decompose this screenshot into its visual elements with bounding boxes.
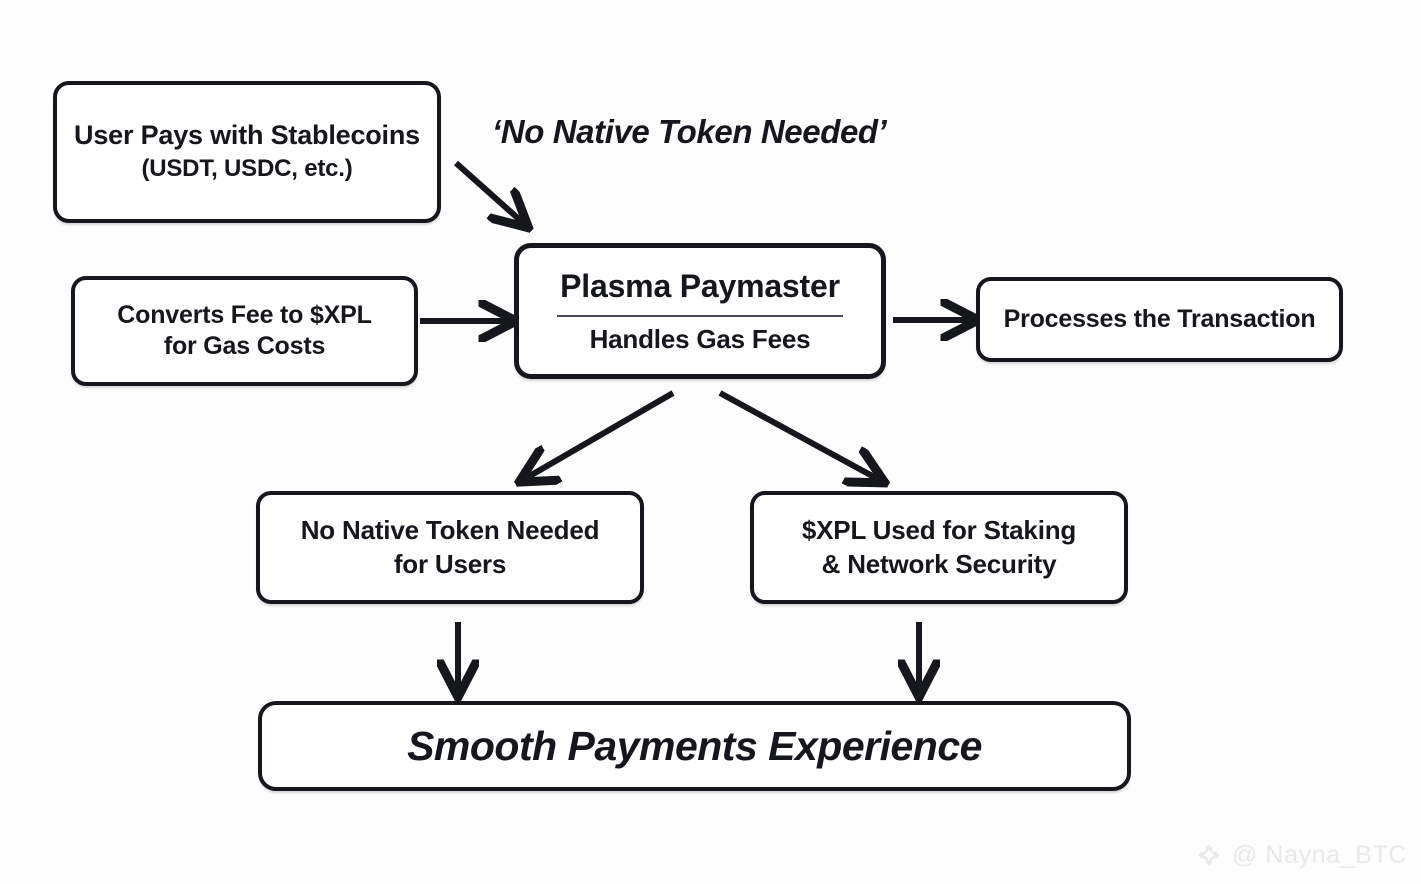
node-no-native-token-line1: No Native Token Needed [260,515,640,546]
node-xpl-staking-line2: & Network Security [754,549,1124,580]
diagram-canvas: ‘No Native Token Needed’ User Pays with … [0,0,1421,884]
node-user-pays-line1: User Pays with Stablecoins [57,120,437,152]
node-no-native-token-line2: for Users [260,549,640,580]
node-plasma-paymaster-divider [557,315,843,317]
node-xpl-staking[interactable]: $XPL Used for Staking & Network Security [750,491,1128,604]
diagram-caption: ‘No Native Token Needed’ [492,113,886,151]
node-processes-transaction[interactable]: Processes the Transaction [976,277,1343,362]
binance-logo-icon [1194,840,1224,870]
node-no-native-token[interactable]: No Native Token Needed for Users [256,491,644,604]
arrow-user-to-paymaster [456,163,521,221]
node-xpl-staking-line1: $XPL Used for Staking [754,515,1124,546]
arrow-paymaster-to-staking [720,393,876,478]
node-plasma-paymaster[interactable]: Plasma Paymaster Handles Gas Fees [514,243,886,379]
node-converts-fee-line2: for Gas Costs [75,332,414,362]
node-user-pays-line2: (USDT, USDC, etc.) [57,155,437,183]
node-plasma-paymaster-subtitle: Handles Gas Fees [519,324,881,355]
node-user-pays[interactable]: User Pays with Stablecoins (USDT, USDC, … [53,81,441,223]
watermark-handle: @ Nayna_BTC [1232,841,1407,870]
node-plasma-paymaster-title: Plasma Paymaster [519,268,881,306]
arrow-paymaster-to-no-native [528,393,673,477]
node-converts-fee-line1: Converts Fee to $XPL [75,301,414,331]
watermark: @ Nayna_BTC [1194,840,1407,870]
node-converts-fee[interactable]: Converts Fee to $XPL for Gas Costs [71,276,418,386]
node-processes-transaction-line1: Processes the Transaction [980,305,1339,335]
node-smooth-payments-line1: Smooth Payments Experience [262,722,1127,770]
node-smooth-payments[interactable]: Smooth Payments Experience [258,701,1131,791]
